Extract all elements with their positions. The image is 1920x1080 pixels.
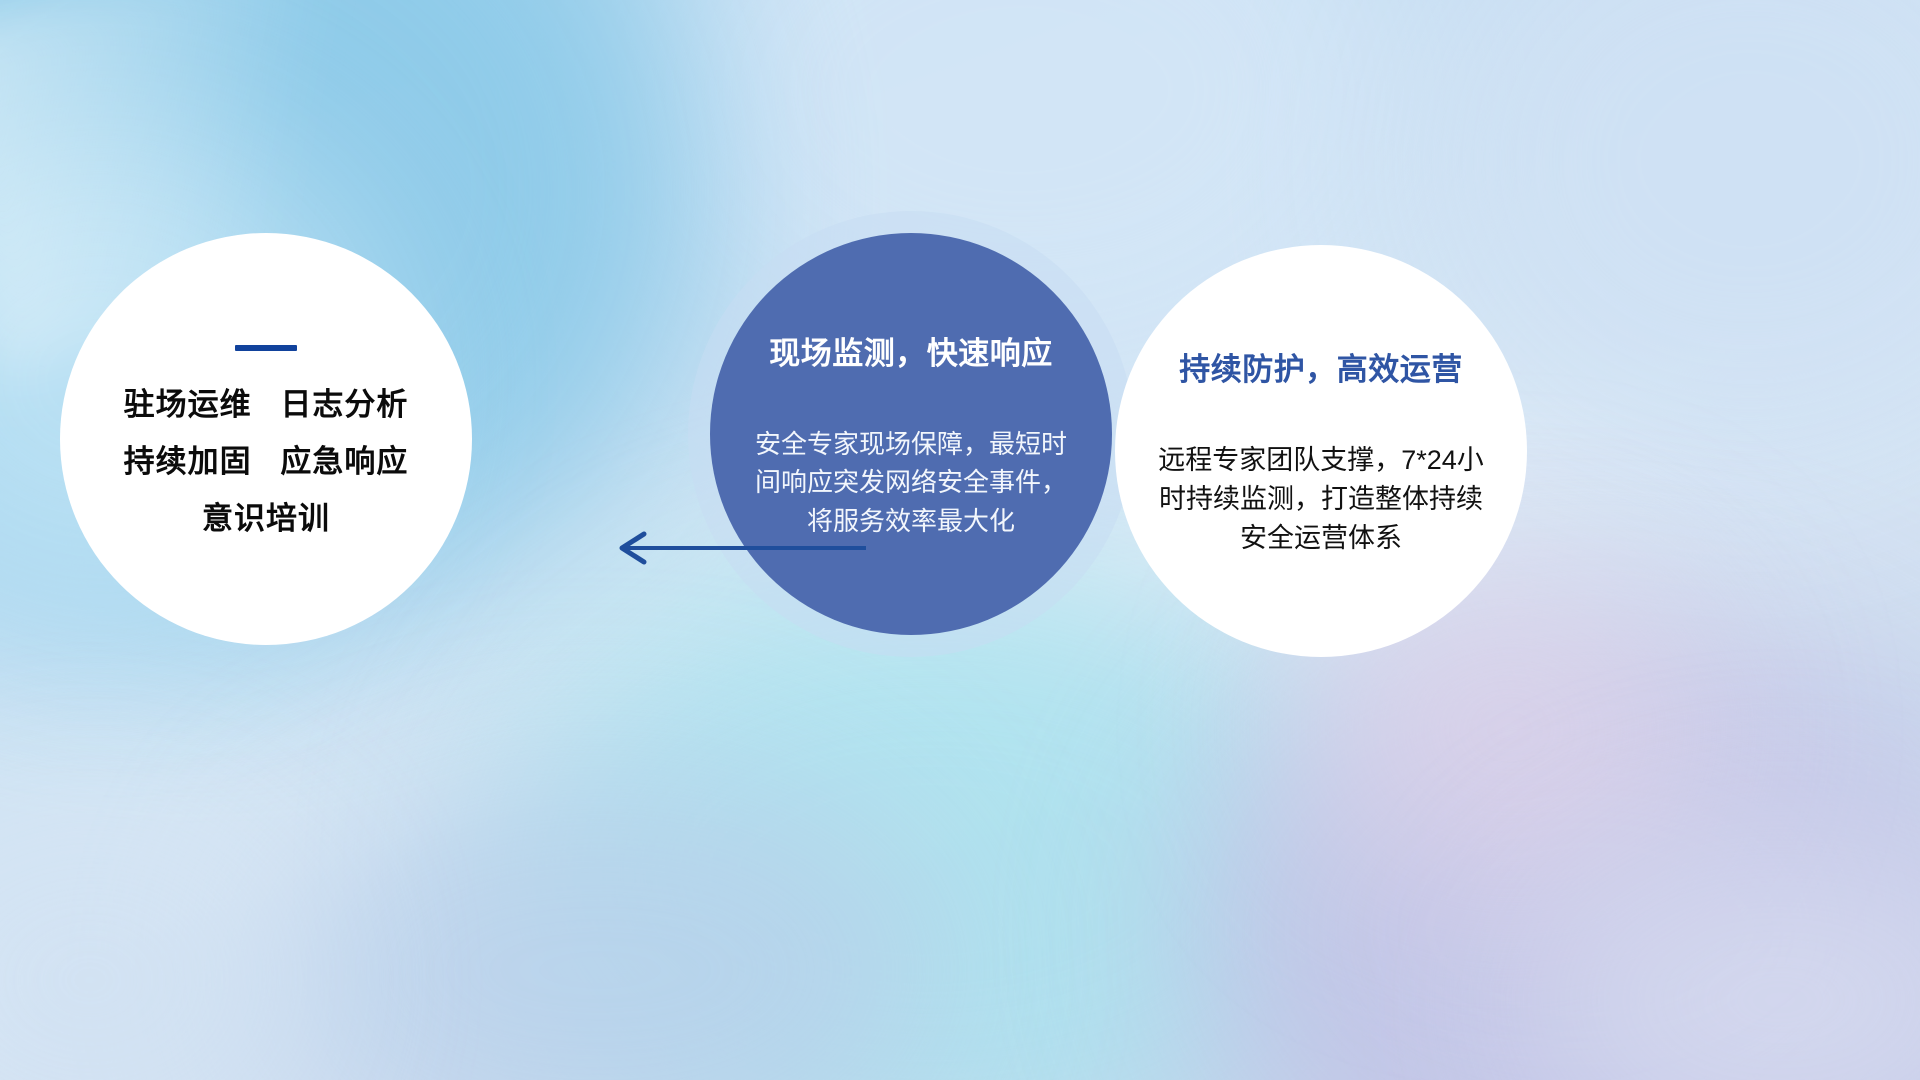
service-line-1: 驻场运维 日志分析 bbox=[124, 389, 409, 420]
circle-right-title: 持续防护，高效运营 bbox=[1179, 344, 1463, 389]
circle-mid-title: 现场监测，快速响应 bbox=[769, 328, 1053, 373]
circle-service-capabilities[interactable]: 驻场运维 日志分析 持续加固 应急响应 意识培训 bbox=[60, 233, 472, 645]
circle-continuous-protection[interactable]: 持续防护，高效运营 远程专家团队支撑，7*24小时持续监测，打造整体持续安全运营… bbox=[1115, 245, 1527, 657]
circle-mid-body: 安全专家现场保障，最短时间响应突发网络安全事件，将服务效率最大化 bbox=[746, 425, 1076, 540]
service-line-2: 持续加固 应急响应 bbox=[124, 446, 409, 477]
circle-onsite-monitoring[interactable]: 现场监测，快速响应 安全专家现场保障，最短时间响应突发网络安全事件，将服务效率最… bbox=[710, 233, 1112, 635]
circle-right-body: 远程专家团队支撑，7*24小时持续监测，打造整体持续安全运营体系 bbox=[1146, 441, 1496, 558]
flow-arrow-left-icon bbox=[608, 524, 868, 572]
divider-dash-icon bbox=[235, 345, 297, 351]
service-line-3: 意识培训 bbox=[202, 503, 330, 534]
slide-canvas: 现场监测，快速响应 安全专家现场保障，最短时间响应突发网络安全事件，将服务效率最… bbox=[0, 0, 1920, 1080]
